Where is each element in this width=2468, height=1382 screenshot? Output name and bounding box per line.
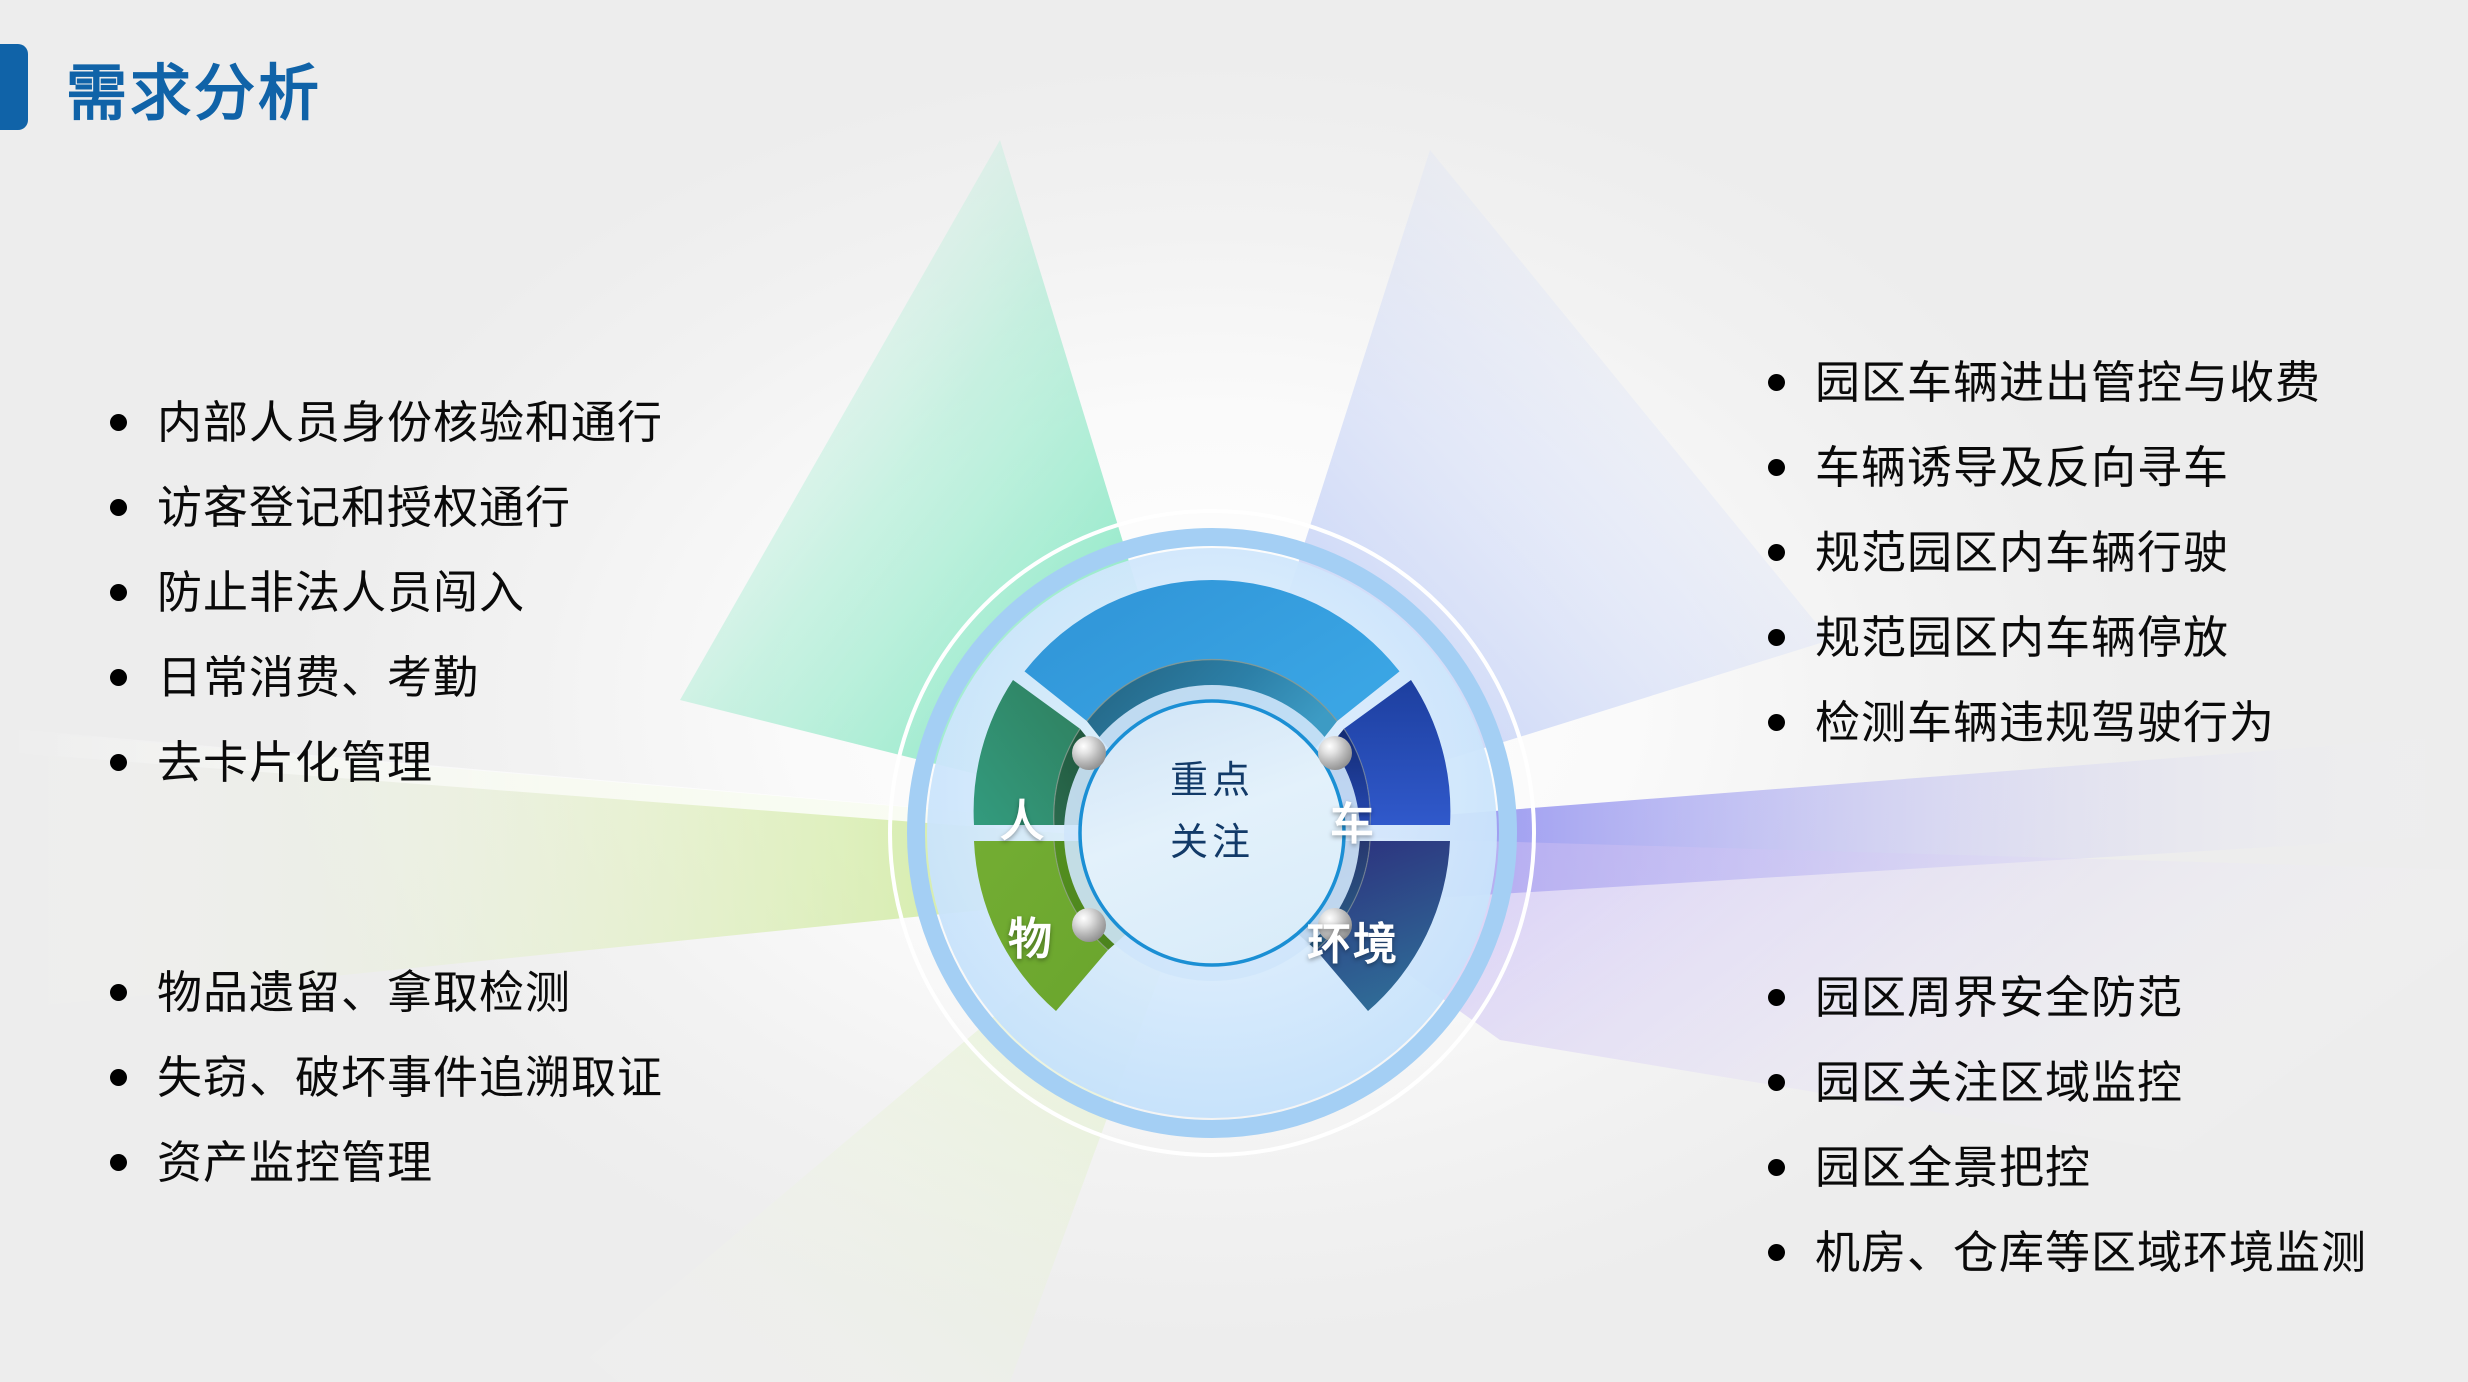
bullet-dot-icon bbox=[1768, 1244, 1785, 1261]
bullet-dot-icon bbox=[1768, 989, 1785, 1006]
list-item: 访客登记和授权通行 bbox=[110, 465, 663, 550]
list-vehicle-requirements: 园区车辆进出管控与收费 车辆诱导及反向寻车 规范园区内车辆行驶 规范园区内车辆停… bbox=[1768, 340, 2321, 765]
list-item-label: 车辆诱导及反向寻车 bbox=[1815, 445, 2229, 490]
list-item-label: 防止非法人员闯入 bbox=[157, 570, 525, 615]
bullet-dot-icon bbox=[110, 499, 127, 516]
list-item-label: 失窃、破坏事件追溯取证 bbox=[157, 1055, 663, 1100]
bullet-dot-icon bbox=[1768, 544, 1785, 561]
focus-wheel-diagram: 人 物 车 环境 重点 关注 bbox=[882, 503, 1542, 1163]
bullet-dot-icon bbox=[1768, 1159, 1785, 1176]
bullet-dot-icon bbox=[110, 754, 127, 771]
page-title: 需求分析 bbox=[66, 44, 322, 130]
list-item: 日常消费、考勤 bbox=[110, 635, 663, 720]
list-item: 园区周界安全防范 bbox=[1768, 955, 2367, 1040]
list-item-label: 园区关注区域监控 bbox=[1815, 1060, 2183, 1105]
bullet-dot-icon bbox=[1768, 374, 1785, 391]
slide-root: 需求分析 bbox=[0, 0, 2468, 1382]
list-item-label: 园区车辆进出管控与收费 bbox=[1815, 360, 2321, 405]
list-item: 资产监控管理 bbox=[110, 1120, 663, 1205]
marker-sphere-ren bbox=[1072, 736, 1106, 770]
list-item-label: 检测车辆违规驾驶行为 bbox=[1815, 700, 2275, 745]
center-circle bbox=[1080, 701, 1344, 965]
bullet-dot-icon bbox=[110, 414, 127, 431]
bullet-dot-icon bbox=[1768, 629, 1785, 646]
list-item: 机房、仓库等区域环境监测 bbox=[1768, 1210, 2367, 1295]
list-item: 规范园区内车辆停放 bbox=[1768, 595, 2321, 680]
list-item: 去卡片化管理 bbox=[110, 720, 663, 805]
list-asset-requirements: 物品遗留、拿取检测 失窃、破坏事件追溯取证 资产监控管理 bbox=[110, 950, 663, 1205]
list-item: 车辆诱导及反向寻车 bbox=[1768, 425, 2321, 510]
list-item-label: 物品遗留、拿取检测 bbox=[157, 970, 571, 1015]
marker-sphere-che bbox=[1318, 736, 1352, 770]
list-item-label: 访客登记和授权通行 bbox=[157, 485, 571, 530]
list-item: 规范园区内车辆行驶 bbox=[1768, 510, 2321, 595]
bullet-dot-icon bbox=[1768, 1074, 1785, 1091]
marker-sphere-wu bbox=[1072, 908, 1106, 942]
bullet-dot-icon bbox=[1768, 714, 1785, 731]
bullet-dot-icon bbox=[110, 584, 127, 601]
list-people-requirements: 内部人员身份核验和通行 访客登记和授权通行 防止非法人员闯入 日常消费、考勤 去… bbox=[110, 380, 663, 805]
list-item-label: 日常消费、考勤 bbox=[157, 655, 479, 700]
list-item-label: 去卡片化管理 bbox=[157, 740, 433, 785]
list-item-label: 资产监控管理 bbox=[157, 1140, 433, 1185]
list-item: 内部人员身份核验和通行 bbox=[110, 380, 663, 465]
list-item: 园区车辆进出管控与收费 bbox=[1768, 340, 2321, 425]
list-item: 防止非法人员闯入 bbox=[110, 550, 663, 635]
list-item: 检测车辆违规驾驶行为 bbox=[1768, 680, 2321, 765]
marker-sphere-huanjing bbox=[1318, 908, 1352, 942]
bullet-dot-icon bbox=[110, 669, 127, 686]
list-item-label: 园区全景把控 bbox=[1815, 1145, 2091, 1190]
list-item-label: 规范园区内车辆停放 bbox=[1815, 615, 2229, 660]
list-environment-requirements: 园区周界安全防范 园区关注区域监控 园区全景把控 机房、仓库等区域环境监测 bbox=[1768, 955, 2367, 1295]
list-item: 园区全景把控 bbox=[1768, 1125, 2367, 1210]
bullet-dot-icon bbox=[110, 1069, 127, 1086]
list-item: 失窃、破坏事件追溯取证 bbox=[110, 1035, 663, 1120]
wheel-svg bbox=[882, 503, 1542, 1163]
bullet-dot-icon bbox=[110, 984, 127, 1001]
bullet-dot-icon bbox=[110, 1154, 127, 1171]
list-item: 园区关注区域监控 bbox=[1768, 1040, 2367, 1125]
list-item-label: 规范园区内车辆行驶 bbox=[1815, 530, 2229, 575]
title-accent-bar bbox=[0, 44, 28, 130]
bullet-dot-icon bbox=[1768, 459, 1785, 476]
list-item-label: 内部人员身份核验和通行 bbox=[157, 400, 663, 445]
list-item: 物品遗留、拿取检测 bbox=[110, 950, 663, 1035]
list-item-label: 机房、仓库等区域环境监测 bbox=[1815, 1230, 2367, 1275]
list-item-label: 园区周界安全防范 bbox=[1815, 975, 2183, 1020]
